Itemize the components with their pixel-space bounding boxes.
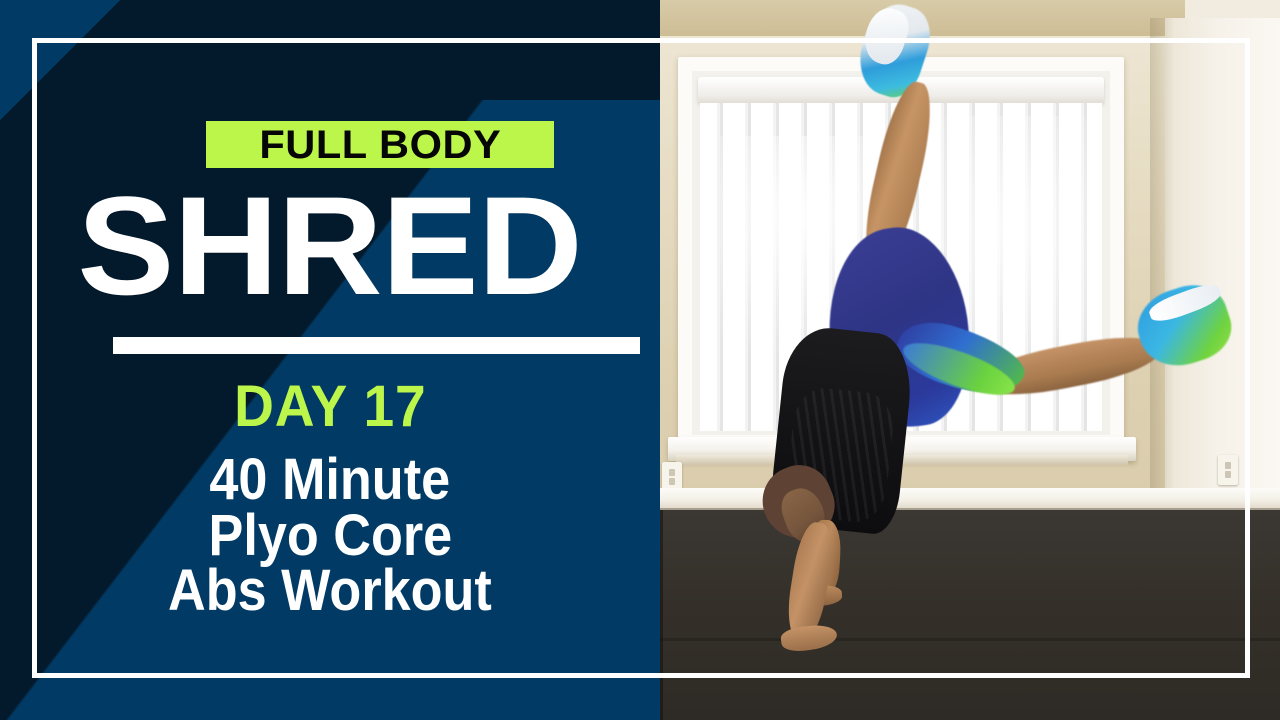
title-text-block: FULL BODY SHRED DAY 17 40 Minute Plyo Co… xyxy=(0,0,660,720)
thumbnail-canvas: FULL BODY SHRED DAY 17 40 Minute Plyo Co… xyxy=(0,0,1280,720)
program-title-text: SHRED xyxy=(78,176,582,316)
day-label-text: DAY 17 xyxy=(234,378,427,436)
program-title: SHRED xyxy=(0,176,660,316)
subtitle-line-2: Plyo Core xyxy=(0,508,660,564)
full-body-badge-label: FULL BODY xyxy=(259,125,501,165)
full-body-badge: FULL BODY xyxy=(206,121,554,168)
title-underline-rule xyxy=(113,337,640,354)
subtitle-line-1-text: 40 Minute xyxy=(210,452,451,508)
subtitle-line-2-text: Plyo Core xyxy=(208,508,452,564)
workout-subtitle: 40 Minute Plyo Core Abs Workout xyxy=(0,452,660,619)
subtitle-line-3: Abs Workout xyxy=(0,563,660,619)
subtitle-line-1: 40 Minute xyxy=(0,452,660,508)
subtitle-line-3-text: Abs Workout xyxy=(168,563,492,619)
day-label: DAY 17 xyxy=(0,378,660,436)
